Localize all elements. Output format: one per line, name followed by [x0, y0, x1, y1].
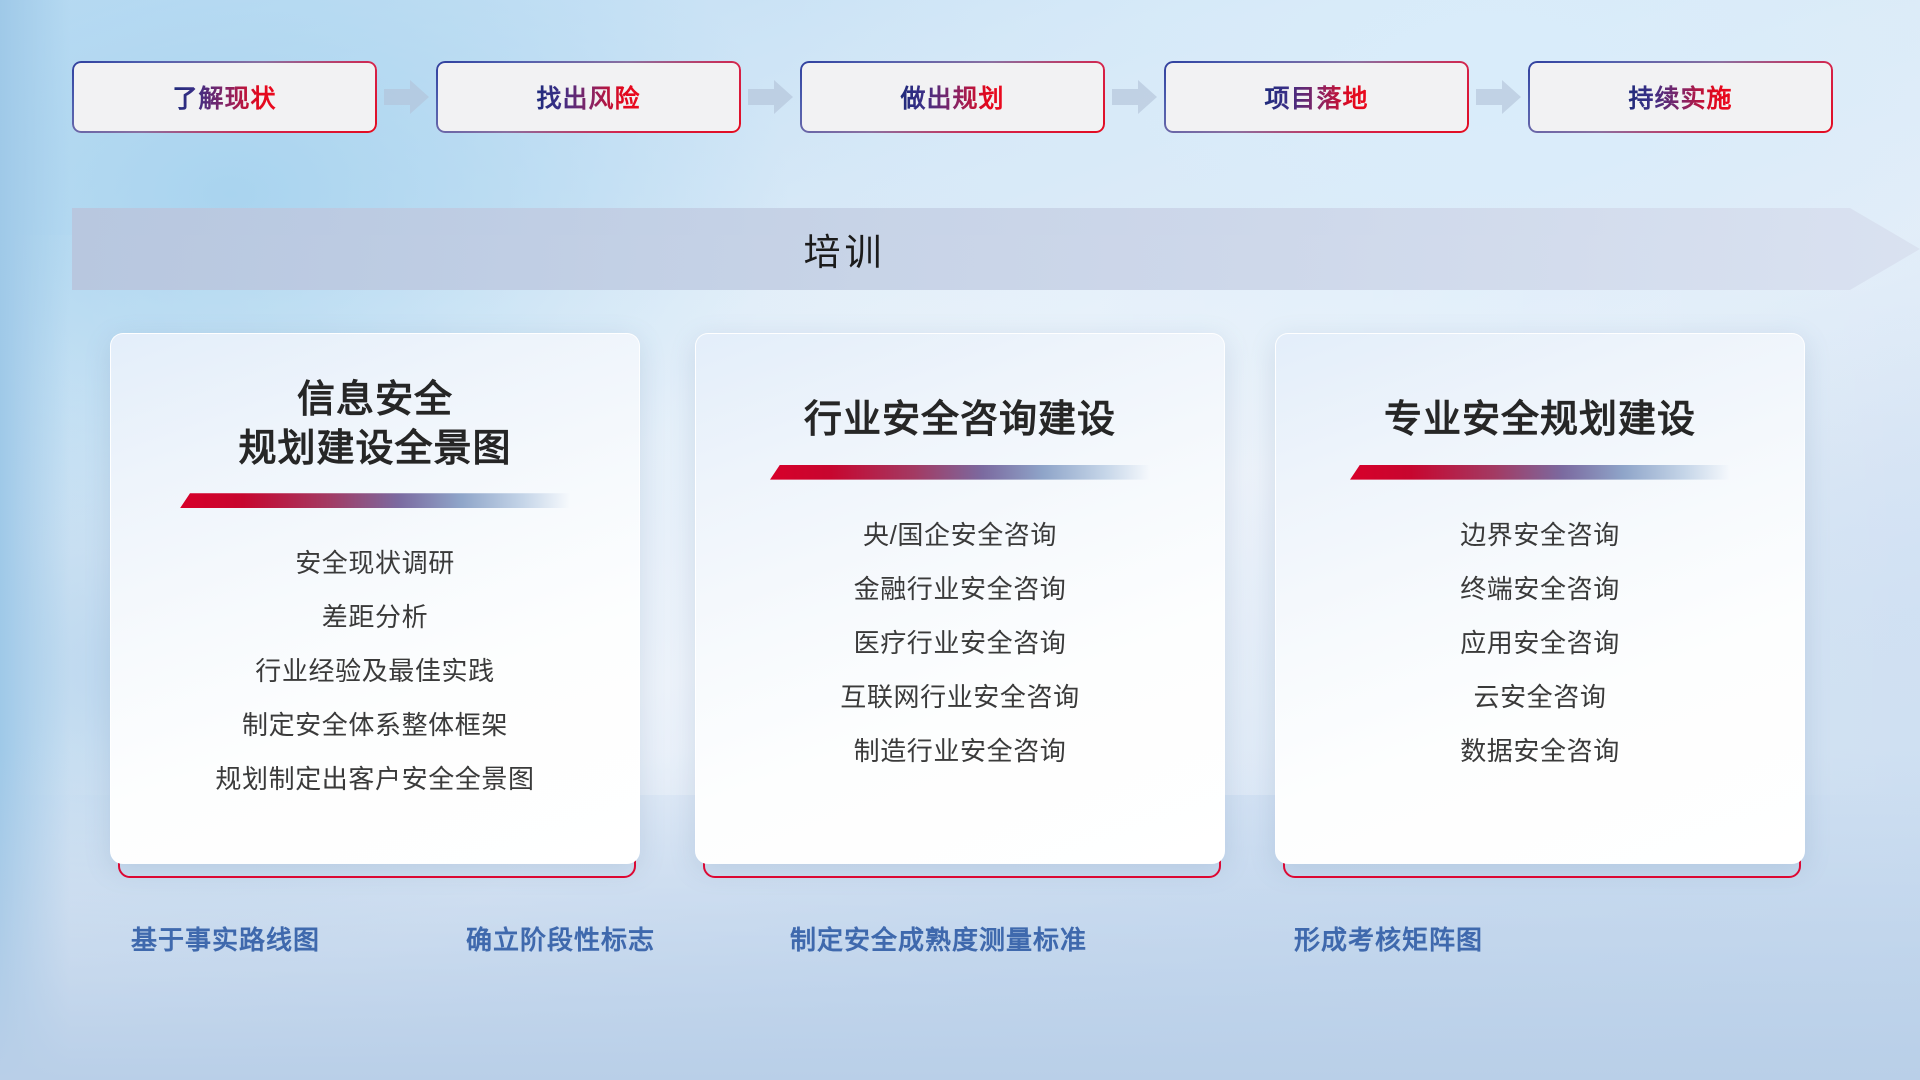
list-item: 云安全咨询	[1473, 672, 1606, 722]
card-list: 边界安全咨询 终端安全咨询 应用安全咨询 云安全咨询 数据安全咨询	[1276, 510, 1804, 776]
list-item: 差距分析	[322, 592, 428, 642]
card-divider	[770, 465, 1150, 480]
arrow-right-icon	[746, 77, 795, 117]
card-1[interactable]: 行业安全咨询建设 央/国企安全咨询 金融行业安全咨询 医疗行业安全咨询 互联网行…	[695, 333, 1225, 878]
card-list: 安全现状调研 差距分析 行业经验及最佳实践 制定安全体系整体框架 规划制定出客户…	[111, 538, 639, 804]
list-item: 金融行业安全咨询	[854, 564, 1067, 614]
card-list: 央/国企安全咨询 金融行业安全咨询 医疗行业安全咨询 互联网行业安全咨询 制造行…	[696, 510, 1224, 776]
list-item: 边界安全咨询	[1460, 510, 1620, 560]
card-title: 专业安全规划建设	[1384, 396, 1696, 445]
process-step-2[interactable]: 做出规划	[800, 61, 1105, 133]
process-step-1[interactable]: 找出风险	[436, 61, 741, 133]
process-step-label: 持续实施	[1628, 79, 1732, 115]
card-title: 行业安全咨询建设	[804, 396, 1116, 445]
caption-2: 制定安全成熟度测量标准	[790, 920, 1087, 957]
list-item: 互联网行业安全咨询	[840, 672, 1079, 722]
process-step-label: 做出规划	[900, 79, 1004, 115]
training-banner: 培训	[72, 208, 1920, 290]
list-item: 安全现状调研	[295, 538, 455, 588]
card-0[interactable]: 信息安全 规划建设全景图 安全现状调研 差距分析 行业经验及最佳实践 制定安全体…	[110, 333, 640, 878]
list-item: 制定安全体系整体框架	[242, 700, 508, 750]
card-2[interactable]: 专业安全规划建设 边界安全咨询 终端安全咨询 应用安全咨询 云安全咨询 数据安全…	[1275, 333, 1805, 878]
list-item: 制造行业安全咨询	[854, 726, 1067, 776]
card-divider	[1350, 465, 1730, 480]
list-item: 医疗行业安全咨询	[854, 618, 1067, 668]
caption-row: 基于事实路线图 确立阶段性标志 制定安全成熟度测量标准 形成考核矩阵图	[0, 920, 1920, 970]
process-step-4[interactable]: 持续实施	[1528, 61, 1833, 133]
card-panel: 专业安全规划建设 边界安全咨询 终端安全咨询 应用安全咨询 云安全咨询 数据安全…	[1275, 333, 1805, 864]
card-row: 信息安全 规划建设全景图 安全现状调研 差距分析 行业经验及最佳实践 制定安全体…	[0, 333, 1920, 878]
list-item: 央/国企安全咨询	[863, 510, 1057, 560]
card-title: 信息安全 规划建设全景图	[238, 376, 511, 473]
banner-title: 培训	[72, 208, 1617, 290]
caption-3: 形成考核矩阵图	[1294, 920, 1483, 957]
list-item: 规划制定出客户安全全景图	[215, 754, 534, 804]
caption-1: 确立阶段性标志	[466, 920, 655, 957]
card-divider	[180, 493, 570, 508]
process-step-label: 项目落地	[1264, 79, 1368, 115]
process-step-label: 找出风险	[536, 79, 640, 115]
arrow-right-icon	[382, 77, 431, 117]
process-step-0[interactable]: 了解现状	[72, 61, 377, 133]
card-panel: 信息安全 规划建设全景图 安全现状调研 差距分析 行业经验及最佳实践 制定安全体…	[110, 333, 640, 864]
list-item: 行业经验及最佳实践	[255, 646, 494, 696]
card-panel: 行业安全咨询建设 央/国企安全咨询 金融行业安全咨询 医疗行业安全咨询 互联网行…	[695, 333, 1225, 864]
process-step-label: 了解现状	[172, 79, 276, 115]
process-step-row: 了解现状 找出风险 做出规划 项目落地 持续实施	[0, 58, 1920, 136]
list-item: 应用安全咨询	[1460, 618, 1620, 668]
arrow-right-icon	[1474, 77, 1523, 117]
list-item: 终端安全咨询	[1460, 564, 1620, 614]
list-item: 数据安全咨询	[1460, 726, 1620, 776]
process-step-3[interactable]: 项目落地	[1164, 61, 1469, 133]
arrow-right-icon	[1110, 77, 1159, 117]
caption-0: 基于事实路线图	[131, 920, 320, 957]
